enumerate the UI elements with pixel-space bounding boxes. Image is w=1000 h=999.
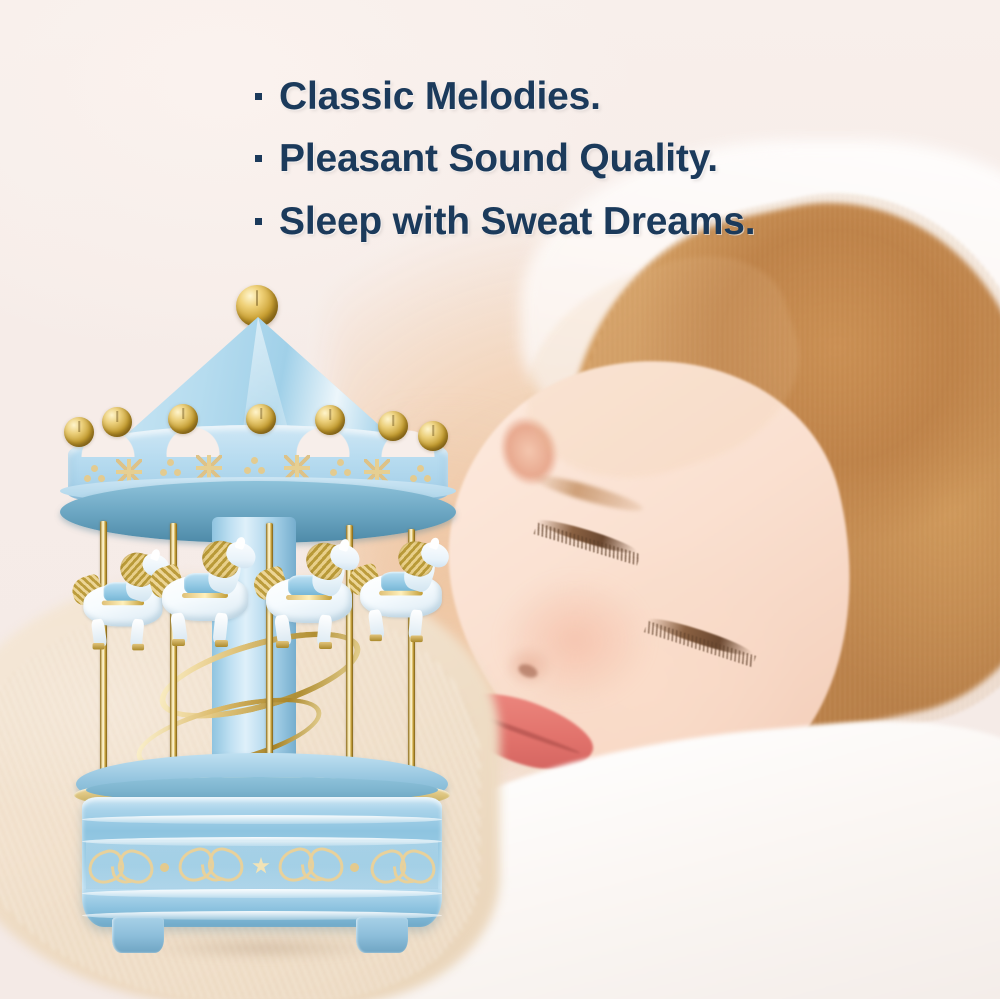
crown-gold-ball (168, 404, 198, 434)
gold-dot-icon (160, 863, 169, 872)
base-ridge (82, 815, 442, 824)
base-foot (112, 917, 164, 953)
heart-ribbon-icon (370, 851, 434, 883)
feature-text-3: Sleep with Sweat Dreams. (279, 200, 755, 244)
feature-bullet-1: Classic Melodies. (255, 75, 975, 119)
feature-bullet-3: Sleep with Sweat Dreams. (255, 200, 975, 244)
crown-gold-ball (64, 417, 94, 447)
heart-ribbon-icon (178, 849, 242, 881)
square-bullet-icon (255, 218, 262, 225)
base-foot (356, 917, 408, 953)
carousel-horse (256, 537, 360, 645)
carousel-horse (152, 535, 256, 643)
feature-text-2: Pleasant Sound Quality. (279, 137, 718, 181)
trefoil-icon (244, 457, 266, 477)
heart-ribbon-icon (88, 851, 152, 883)
carousel-horse (351, 536, 450, 639)
trefoil-icon (160, 459, 182, 479)
base-ridge (82, 889, 442, 898)
gold-star-icon (252, 857, 270, 875)
square-bullet-icon (255, 93, 262, 100)
feature-text-1: Classic Melodies. (279, 75, 601, 119)
base-motif-row (86, 845, 438, 887)
child-nose (500, 630, 570, 690)
crown-gold-ball (315, 405, 345, 435)
trefoil-icon (330, 459, 352, 479)
heart-ribbon-icon (278, 849, 342, 881)
feature-bullet-2: Pleasant Sound Quality. (255, 137, 975, 181)
carousel-music-box (60, 285, 480, 955)
crown-gold-ball (378, 411, 408, 441)
square-bullet-icon (255, 155, 262, 162)
product-image-canvas: Classic Melodies. Pleasant Sound Quality… (0, 0, 1000, 999)
crown-gold-ball (102, 407, 132, 437)
crown-gold-ball (246, 404, 276, 434)
gold-dot-icon (350, 863, 359, 872)
crown-gold-ball (418, 421, 448, 451)
marketing-copy: Classic Melodies. Pleasant Sound Quality… (255, 75, 975, 262)
